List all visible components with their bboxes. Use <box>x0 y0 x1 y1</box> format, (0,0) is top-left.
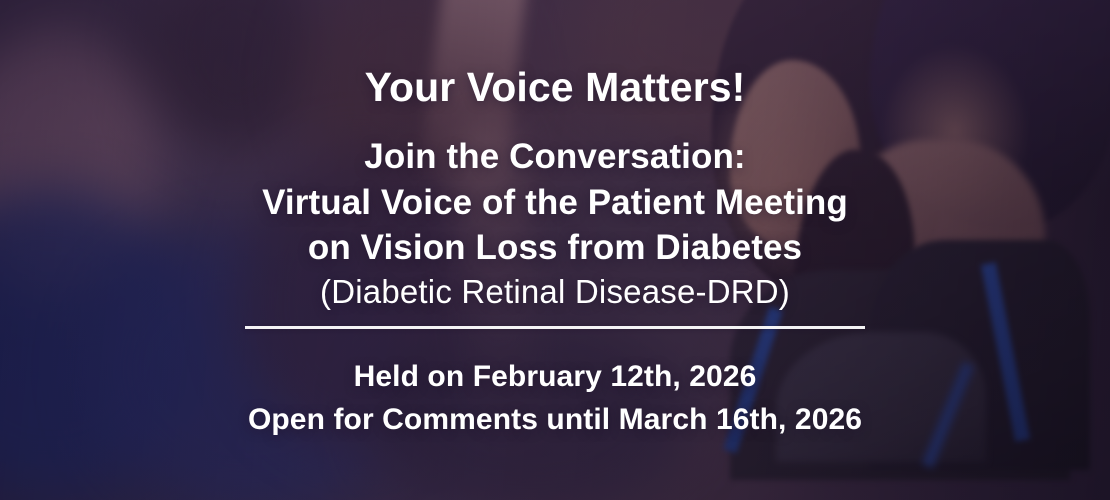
meeting-date: Held on February 12th, 2026 <box>0 356 1110 399</box>
banner-dates: Held on February 12th, 2026 Open for Com… <box>0 356 1110 441</box>
subheadline-line-2: Virtual Voice of the Patient Meeting <box>0 180 1110 226</box>
promo-banner: Your Voice Matters! Join the Conversatio… <box>0 0 1110 500</box>
banner-parenthetical: (Diabetic Retinal Disease-DRD) <box>0 273 1110 311</box>
banner-subheadline: Join the Conversation: Virtual Voice of … <box>0 134 1110 271</box>
subheadline-line-3: on Vision Loss from Diabetes <box>0 225 1110 271</box>
banner-headline: Your Voice Matters! <box>0 66 1110 109</box>
banner-content: Your Voice Matters! Join the Conversatio… <box>0 0 1110 500</box>
divider-rule <box>245 326 865 329</box>
comment-deadline: Open for Comments until March 16th, 2026 <box>0 399 1110 442</box>
subheadline-line-1: Join the Conversation: <box>0 134 1110 180</box>
